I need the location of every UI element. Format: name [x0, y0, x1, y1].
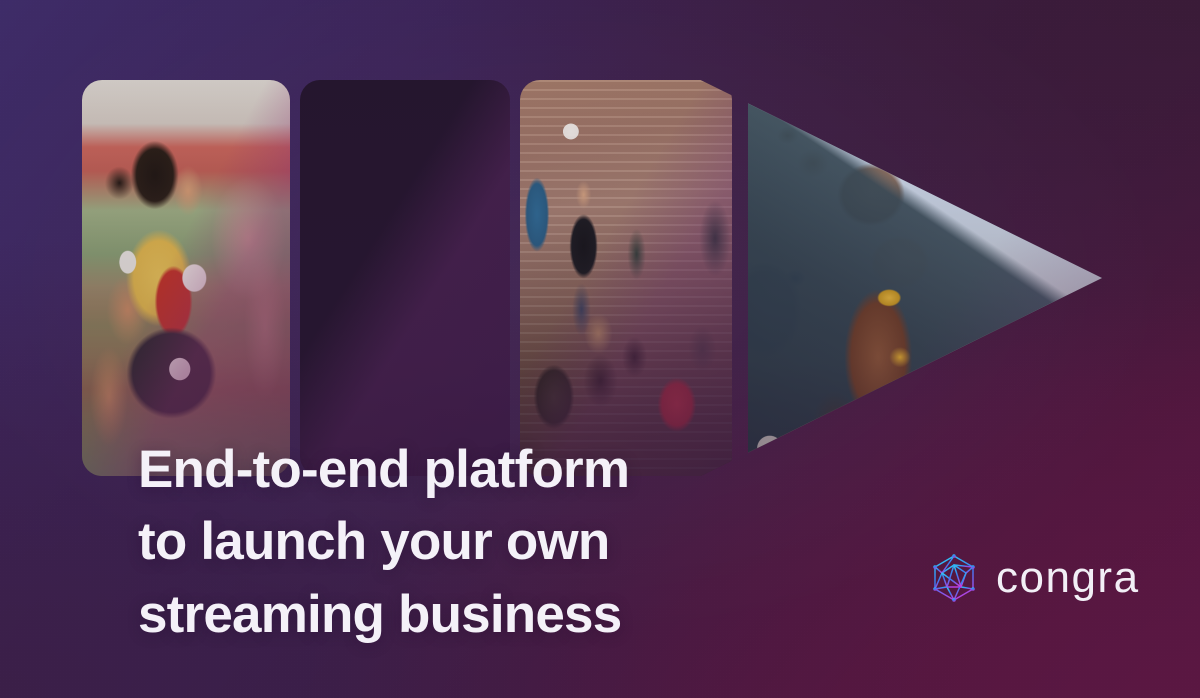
logo-wordmark: congra: [996, 556, 1140, 600]
brand-logo[interactable]: congra: [928, 552, 1140, 604]
polyhedron-logo-icon: [928, 552, 980, 604]
hero-headline: End-to-end platform to launch your own s…: [138, 434, 738, 652]
conference-talk-color-wash: [520, 80, 732, 476]
athletics-color-wash: [82, 80, 290, 476]
headline-line-2: to launch your own: [138, 506, 738, 579]
guitar-color-wash: [300, 80, 510, 476]
collage-panel-talk: [520, 80, 732, 476]
hero-banner: End-to-end platform to launch your own s…: [0, 0, 1200, 698]
headline-line-3: streaming business: [138, 579, 738, 652]
collage-panel-guitar: [300, 80, 510, 476]
headline-line-1: End-to-end platform: [138, 434, 738, 507]
collage-panel-athletics: [82, 80, 290, 476]
